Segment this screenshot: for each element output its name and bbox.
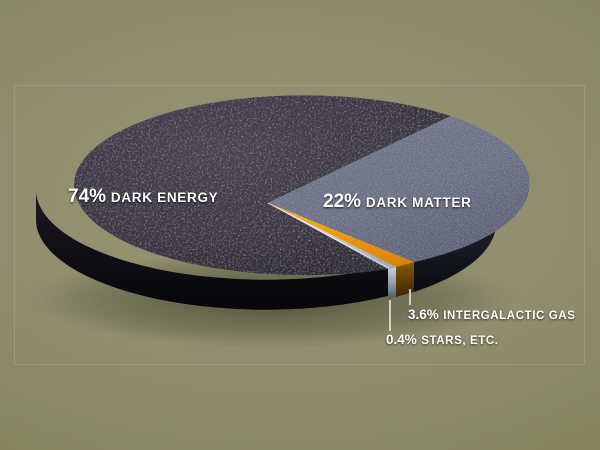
slice-side-intergalactic-gas: [396, 262, 414, 297]
slice-side-stars: [388, 267, 396, 299]
figure-canvas: 74% DARK ENERGY 22% DARK MATTER 3.6% INT…: [0, 0, 600, 450]
pie-chart: 74% DARK ENERGY 22% DARK MATTER 3.6% INT…: [0, 0, 600, 450]
pie-chart-svg: [0, 0, 600, 450]
